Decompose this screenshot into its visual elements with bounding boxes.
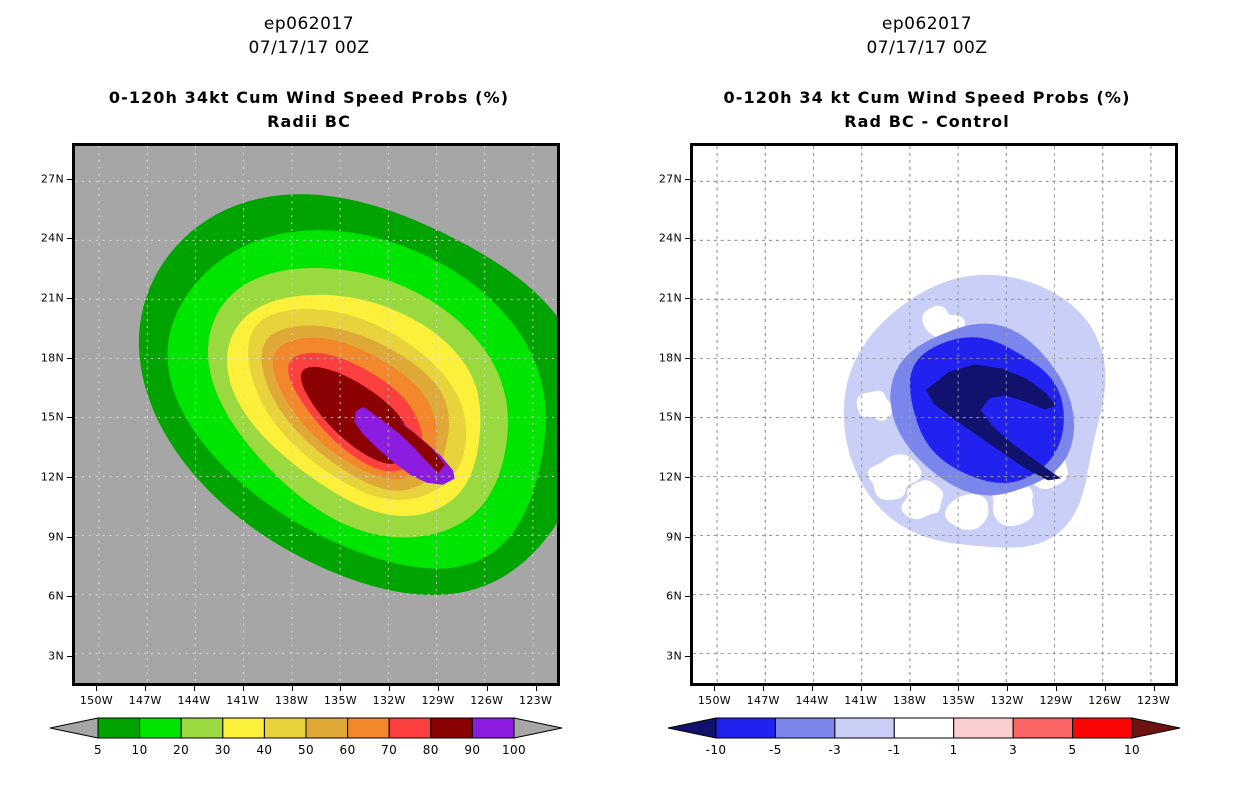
- x-axis-tick-label: 129W: [1033, 694, 1079, 707]
- x-axis-tick-mark: [536, 686, 537, 691]
- x-axis-tick-label: 144W: [171, 694, 217, 707]
- datetime-left: 07/17/17 00Z: [0, 38, 618, 58]
- x-axis-tick-label: 126W: [1082, 694, 1128, 707]
- x-axis-tick-label: 138W: [887, 694, 933, 707]
- colorbar-tick-label: 20: [161, 743, 201, 757]
- colorbar-segment[interactable]: [1013, 718, 1072, 738]
- x-axis-tick-mark: [910, 686, 911, 691]
- storm-id-right: ep062017: [618, 14, 1236, 34]
- x-axis-tick-mark: [145, 686, 146, 691]
- x-axis-tick-label: 147W: [122, 694, 168, 707]
- y-axis-tick-label: 15N: [28, 411, 64, 424]
- panel-left: ep062017 07/17/17 00Z 0-120h 34kt Cum Wi…: [0, 0, 618, 800]
- colorbar-tick-label: 60: [328, 743, 368, 757]
- datetime-right: 07/17/17 00Z: [618, 38, 1236, 58]
- colorbar-tick-label: -1: [874, 743, 914, 757]
- y-axis-tick-label: 21N: [646, 292, 682, 305]
- plot-subtitle-left: Radii BC: [0, 112, 618, 131]
- y-axis-tick-label: 3N: [646, 650, 682, 663]
- colorbar-segment[interactable]: [894, 718, 953, 738]
- colorbar-tick-label: 90: [452, 743, 492, 757]
- y-axis-tick-label: 21N: [28, 292, 64, 305]
- x-axis-tick-mark: [958, 686, 959, 691]
- colorbar-probability-swatches: [46, 716, 566, 740]
- x-axis-tick-label: 135W: [317, 694, 363, 707]
- colorbar-segment[interactable]: [472, 718, 514, 738]
- plot-area-left[interactable]: [72, 143, 560, 686]
- x-axis-tick-mark: [714, 686, 715, 691]
- y-axis-tick-label: 9N: [646, 530, 682, 543]
- x-axis-tick-mark: [763, 686, 764, 691]
- colorbar-segment[interactable]: [181, 718, 223, 738]
- y-axis-tick-label: 15N: [646, 411, 682, 424]
- colorbar-tick-label: 10: [120, 743, 160, 757]
- colorbar-tick-label: -5: [755, 743, 795, 757]
- y-axis-tick-label: 18N: [28, 351, 64, 364]
- colorbar-under-arrow: [668, 718, 716, 738]
- colorbar-segment[interactable]: [835, 718, 894, 738]
- y-axis-tick-label: 12N: [646, 471, 682, 484]
- colorbar-tick-label: 40: [244, 743, 284, 757]
- x-axis-tick-label: 132W: [366, 694, 412, 707]
- difference-contour-field: [693, 146, 1175, 683]
- colorbar-tick-label: 30: [203, 743, 243, 757]
- panel-right: ep062017 07/17/17 00Z 0-120h 34 kt Cum W…: [618, 0, 1236, 800]
- colorbar-tick-label: -3: [815, 743, 855, 757]
- colorbar-difference-swatches: [664, 716, 1184, 740]
- x-axis-tick-label: 126W: [464, 694, 510, 707]
- y-axis-tick-label: 6N: [646, 590, 682, 603]
- x-axis-tick-mark: [1056, 686, 1057, 691]
- colorbar-difference[interactable]: -10-5-3-113510: [664, 716, 1184, 766]
- x-axis-tick-label: 123W: [1131, 694, 1177, 707]
- plot-area-right[interactable]: [690, 143, 1178, 686]
- colorbar-tick-label: 80: [411, 743, 451, 757]
- y-axis-tick-label: 24N: [646, 232, 682, 245]
- colorbar-segment[interactable]: [389, 718, 431, 738]
- colorbar-segment[interactable]: [348, 718, 390, 738]
- colorbar-segment[interactable]: [140, 718, 182, 738]
- colorbar-tick-label: 5: [78, 743, 118, 757]
- x-axis-tick-mark: [96, 686, 97, 691]
- storm-id-left: ep062017: [0, 14, 618, 34]
- y-axis-tick-label: 6N: [28, 590, 64, 603]
- x-axis-tick-label: 144W: [789, 694, 835, 707]
- colorbar-segment[interactable]: [223, 718, 265, 738]
- colorbar-probability[interactable]: 5102030405060708090100: [46, 716, 566, 766]
- colorbar-segment[interactable]: [431, 718, 473, 738]
- colorbar-segment[interactable]: [954, 718, 1013, 738]
- y-axis-tick-label: 18N: [646, 351, 682, 364]
- plot-title-left: 0-120h 34kt Cum Wind Speed Probs (%): [0, 88, 618, 107]
- x-axis-tick-mark: [861, 686, 862, 691]
- colorbar-tick-label: 100: [494, 743, 534, 757]
- x-axis-tick-mark: [340, 686, 341, 691]
- probability-contour-field: [75, 146, 557, 683]
- colorbar-segment[interactable]: [306, 718, 348, 738]
- y-axis-tick-label: 12N: [28, 471, 64, 484]
- x-axis-tick-label: 147W: [740, 694, 786, 707]
- colorbar-tick-label: 70: [369, 743, 409, 757]
- x-axis-tick-label: 150W: [691, 694, 737, 707]
- x-axis-tick-mark: [487, 686, 488, 691]
- colorbar-tick-label: 1: [934, 743, 974, 757]
- x-axis-tick-label: 129W: [415, 694, 461, 707]
- y-axis-tick-label: 3N: [28, 650, 64, 663]
- plot-title-right: 0-120h 34 kt Cum Wind Speed Probs (%): [618, 88, 1236, 107]
- x-axis-tick-label: 141W: [838, 694, 884, 707]
- y-axis-tick-label: 27N: [28, 172, 64, 185]
- x-axis-tick-mark: [292, 686, 293, 691]
- x-axis-tick-label: 123W: [513, 694, 559, 707]
- x-axis-tick-mark: [1007, 686, 1008, 691]
- x-axis-tick-mark: [243, 686, 244, 691]
- x-axis-tick-label: 135W: [935, 694, 981, 707]
- colorbar-segment[interactable]: [264, 718, 306, 738]
- colorbar-segment[interactable]: [716, 718, 775, 738]
- colorbar-under-arrow: [50, 718, 98, 738]
- x-axis-tick-mark: [812, 686, 813, 691]
- colorbar-tick-label: -10: [696, 743, 736, 757]
- colorbar-tick-label: 5: [1053, 743, 1093, 757]
- y-axis-tick-label: 24N: [28, 232, 64, 245]
- colorbar-over-arrow: [1132, 718, 1180, 738]
- colorbar-segment[interactable]: [775, 718, 834, 738]
- x-axis-tick-label: 132W: [984, 694, 1030, 707]
- colorbar-tick-label: 10: [1112, 743, 1152, 757]
- colorbar-tick-label: 50: [286, 743, 326, 757]
- colorbar-over-arrow: [514, 718, 562, 738]
- plot-subtitle-right: Rad BC - Control: [618, 112, 1236, 131]
- colorbar-segment[interactable]: [1073, 718, 1132, 738]
- x-axis-tick-label: 150W: [73, 694, 119, 707]
- colorbar-tick-label: 3: [993, 743, 1033, 757]
- x-axis-tick-mark: [1154, 686, 1155, 691]
- x-axis-tick-mark: [194, 686, 195, 691]
- x-axis-tick-mark: [389, 686, 390, 691]
- x-axis-tick-label: 141W: [220, 694, 266, 707]
- x-axis-tick-label: 138W: [269, 694, 315, 707]
- x-axis-tick-mark: [438, 686, 439, 691]
- x-axis-tick-mark: [1105, 686, 1106, 691]
- y-axis-tick-label: 9N: [28, 530, 64, 543]
- y-axis-tick-label: 27N: [646, 172, 682, 185]
- colorbar-segment[interactable]: [98, 718, 140, 738]
